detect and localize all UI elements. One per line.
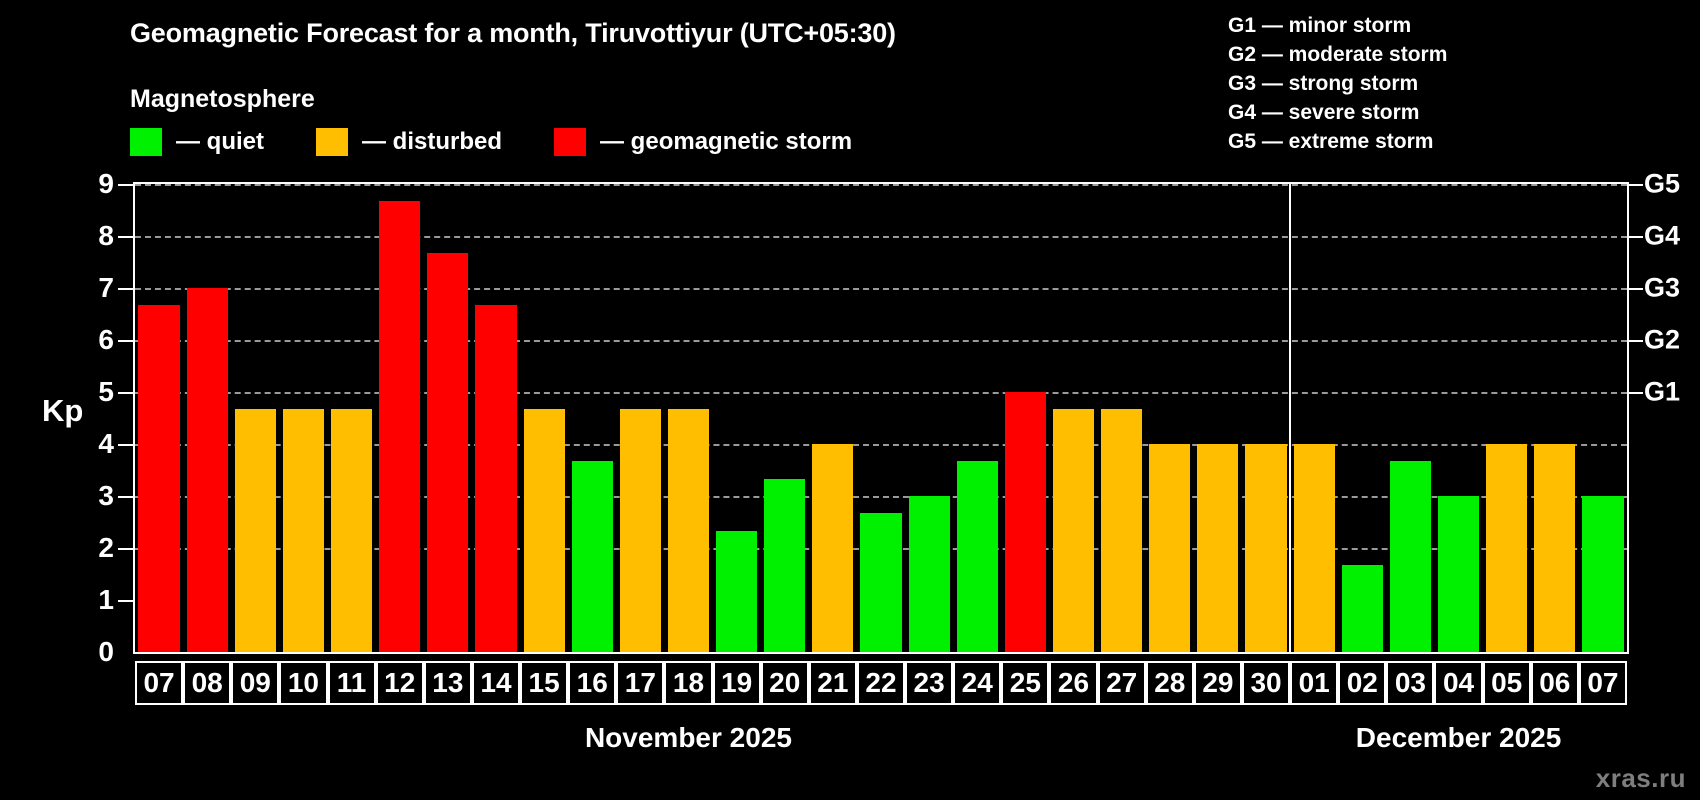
bar-12-storm[interactable]: [379, 201, 420, 652]
day-label-5[interactable]: 12: [376, 661, 424, 705]
bars-layer: [135, 184, 1627, 652]
bar-26-disturbed[interactable]: [1053, 409, 1094, 652]
bar-05-disturbed[interactable]: [1486, 444, 1527, 652]
legend-label-quiet: — quiet: [176, 128, 264, 156]
legend-heading: Magnetosphere: [130, 85, 315, 114]
y-tick-label-7: 7: [74, 272, 114, 304]
quiet-color-swatch: [130, 128, 162, 156]
gscale-line-g4: G4 — severe storm: [1228, 98, 1447, 127]
day-label-29[interactable]: 06: [1531, 661, 1579, 705]
bar-16-quiet[interactable]: [572, 461, 613, 652]
y-tick-mark-4: [118, 444, 133, 446]
day-label-30[interactable]: 07: [1579, 661, 1627, 705]
day-label-14[interactable]: 21: [809, 661, 857, 705]
y-tick-mark-8: [118, 236, 133, 238]
y-tick-label-0: 0: [74, 636, 114, 668]
day-label-4[interactable]: 11: [328, 661, 376, 705]
bar-30-disturbed[interactable]: [1245, 444, 1286, 652]
y-tick-mark-5: [118, 392, 133, 394]
y-tick-label-8: 8: [74, 220, 114, 252]
day-label-2[interactable]: 09: [231, 661, 279, 705]
bar-28-disturbed[interactable]: [1149, 444, 1190, 652]
y-tick-label-3: 3: [74, 480, 114, 512]
y-tick-label-2: 2: [74, 532, 114, 564]
bar-07-storm[interactable]: [138, 305, 179, 652]
day-label-11[interactable]: 18: [664, 661, 712, 705]
day-label-19[interactable]: 26: [1049, 661, 1097, 705]
plot-area: [133, 182, 1629, 654]
bar-04-quiet[interactable]: [1438, 496, 1479, 652]
bar-18-disturbed[interactable]: [668, 409, 709, 652]
g-tick-label-g4: G4: [1644, 221, 1680, 252]
day-label-17[interactable]: 24: [953, 661, 1001, 705]
bar-11-disturbed[interactable]: [331, 409, 372, 652]
y-tick-mark-9: [118, 184, 133, 186]
month-label-1: December 2025: [1356, 722, 1561, 754]
storm-color-swatch: [554, 128, 586, 156]
bar-21-disturbed[interactable]: [812, 444, 853, 652]
month-divider-line: [1289, 184, 1291, 652]
day-label-20[interactable]: 27: [1098, 661, 1146, 705]
day-label-23[interactable]: 30: [1242, 661, 1290, 705]
bar-17-disturbed[interactable]: [620, 409, 661, 652]
gscale-line-g2: G2 — moderate storm: [1228, 40, 1447, 69]
bar-08-storm[interactable]: [187, 288, 228, 652]
day-label-27[interactable]: 04: [1434, 661, 1482, 705]
legend-item-storm: — geomagnetic storm: [554, 128, 852, 156]
y-tick-mark-7: [118, 288, 133, 290]
bar-23-quiet[interactable]: [909, 496, 950, 652]
y-tick-mark-1: [118, 600, 133, 602]
day-label-26[interactable]: 03: [1386, 661, 1434, 705]
g-tick-label-g5: G5: [1644, 169, 1680, 200]
bar-10-disturbed[interactable]: [283, 409, 324, 652]
y-tick-mark-3: [118, 496, 133, 498]
day-label-13[interactable]: 20: [761, 661, 809, 705]
gscale-line-g5: G5 — extreme storm: [1228, 127, 1447, 156]
bar-20-quiet[interactable]: [764, 479, 805, 652]
bar-01-disturbed[interactable]: [1294, 444, 1335, 652]
day-label-18[interactable]: 25: [1001, 661, 1049, 705]
day-label-21[interactable]: 28: [1146, 661, 1194, 705]
g-tick-mark-g5: [1629, 184, 1643, 186]
g-tick-mark-g1: [1629, 392, 1643, 394]
watermark: xras.ru: [1596, 763, 1686, 794]
g-tick-label-g3: G3: [1644, 273, 1680, 304]
bar-29-disturbed[interactable]: [1197, 444, 1238, 652]
bar-27-disturbed[interactable]: [1101, 409, 1142, 652]
bar-06-disturbed[interactable]: [1534, 444, 1575, 652]
y-tick-mark-6: [118, 340, 133, 342]
y-tick-label-1: 1: [74, 584, 114, 616]
bar-15-disturbed[interactable]: [524, 409, 565, 652]
day-label-10[interactable]: 17: [616, 661, 664, 705]
gscale-line-g3: G3 — strong storm: [1228, 69, 1447, 98]
y-tick-label-9: 9: [74, 168, 114, 200]
bar-09-disturbed[interactable]: [235, 409, 276, 652]
day-label-7[interactable]: 14: [472, 661, 520, 705]
day-label-1[interactable]: 08: [183, 661, 231, 705]
g-tick-mark-g3: [1629, 288, 1643, 290]
day-label-16[interactable]: 23: [905, 661, 953, 705]
g-tick-label-g1: G1: [1644, 377, 1680, 408]
day-label-0[interactable]: 07: [135, 661, 183, 705]
y-tick-label-6: 6: [74, 324, 114, 356]
disturbed-color-swatch: [316, 128, 348, 156]
bar-07-quiet[interactable]: [1582, 496, 1623, 652]
day-label-12[interactable]: 19: [713, 661, 761, 705]
legend-item-disturbed: — disturbed: [316, 128, 502, 156]
day-axis: 0708091011121314151617181920212223242526…: [133, 661, 1629, 705]
bar-25-storm[interactable]: [1005, 392, 1046, 652]
y-tick-label-4: 4: [74, 428, 114, 460]
day-label-8[interactable]: 15: [520, 661, 568, 705]
magnetosphere-legend: — quiet — disturbed — geomagnetic storm: [130, 128, 904, 156]
bar-03-quiet[interactable]: [1390, 461, 1431, 652]
day-label-25[interactable]: 02: [1338, 661, 1386, 705]
bar-19-quiet[interactable]: [716, 531, 757, 652]
gscale-line-g1: G1 — minor storm: [1228, 11, 1447, 40]
bar-22-quiet[interactable]: [860, 513, 901, 652]
g-tick-mark-g4: [1629, 236, 1643, 238]
month-label-0: November 2025: [585, 722, 792, 754]
legend-label-disturbed: — disturbed: [362, 128, 502, 156]
day-label-3[interactable]: 10: [279, 661, 327, 705]
legend-item-quiet: — quiet: [130, 128, 264, 156]
gscale-legend: G1 — minor storm G2 — moderate storm G3 …: [1228, 11, 1447, 156]
day-label-24[interactable]: 01: [1290, 661, 1338, 705]
day-label-28[interactable]: 05: [1483, 661, 1531, 705]
g-tick-mark-g2: [1629, 340, 1643, 342]
bar-02-quiet[interactable]: [1342, 565, 1383, 652]
day-label-6[interactable]: 13: [424, 661, 472, 705]
bar-13-storm[interactable]: [427, 253, 468, 652]
day-label-9[interactable]: 16: [568, 661, 616, 705]
page-title: Geomagnetic Forecast for a month, Tiruvo…: [130, 18, 896, 49]
bar-24-quiet[interactable]: [957, 461, 998, 652]
y-tick-label-5: 5: [74, 376, 114, 408]
legend-label-storm: — geomagnetic storm: [600, 128, 852, 156]
day-label-22[interactable]: 29: [1194, 661, 1242, 705]
day-label-15[interactable]: 22: [857, 661, 905, 705]
g-tick-label-g2: G2: [1644, 325, 1680, 356]
y-tick-mark-2: [118, 548, 133, 550]
bar-14-storm[interactable]: [475, 305, 516, 652]
